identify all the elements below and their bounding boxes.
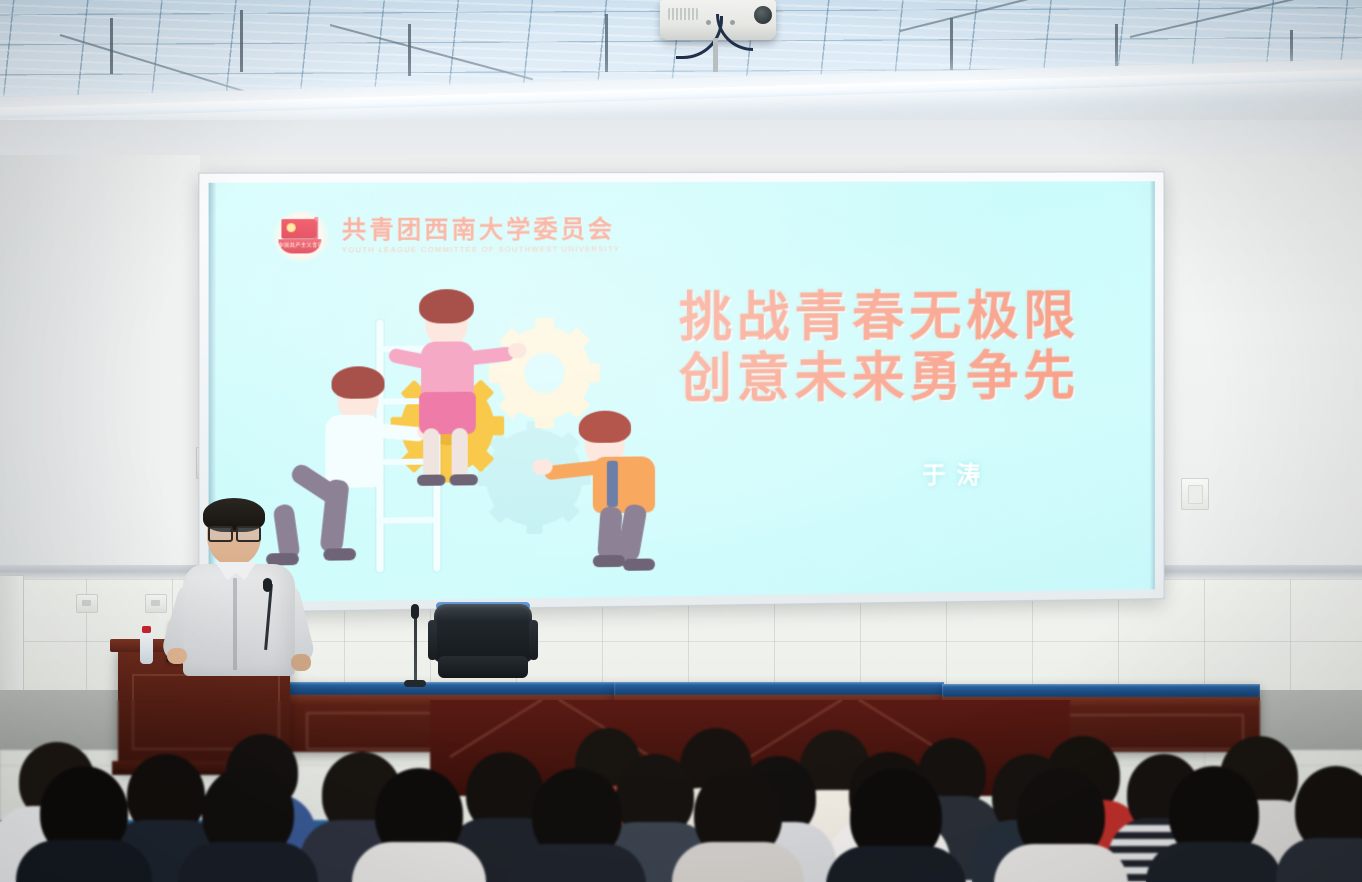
list-item xyxy=(352,768,486,882)
figure-hair xyxy=(579,410,631,443)
audience-body xyxy=(1276,838,1362,882)
ceiling-hanger-rod xyxy=(950,18,953,70)
list-item xyxy=(1146,766,1282,882)
audience-body xyxy=(178,842,318,882)
presenter-shirt-placket xyxy=(233,578,237,670)
executive-chair[interactable] xyxy=(428,604,538,690)
slide-org-name-en: YOUTH LEAGUE COMMITTEE OF SOUTHWEST UNIV… xyxy=(342,244,620,254)
gear-hub xyxy=(524,353,564,393)
slide-logo-text: 共青团西南大学委员会 YOUTH LEAGUE COMMITTEE OF SOU… xyxy=(342,218,620,254)
audience-body xyxy=(994,844,1128,882)
projected-slide: 中国共产主义青年团 共青团西南大学委员会 YOUTH LEAGUE COMMIT… xyxy=(209,181,1155,603)
list-item xyxy=(826,768,966,882)
communist-youth-league-emblem: 中国共产主义青年团 xyxy=(272,211,329,262)
figure-hand xyxy=(532,459,552,474)
list-item xyxy=(16,766,152,882)
slide-title: 挑战青春无极限 创意未来勇争先 xyxy=(626,286,1132,412)
list-item xyxy=(508,768,646,882)
slide-title-line-2: 创意未来勇争先 xyxy=(626,347,1132,412)
audience-body xyxy=(826,846,966,882)
wall-outlet-left[interactable] xyxy=(76,594,98,613)
figure-shoe xyxy=(323,548,356,561)
chair-backrest xyxy=(434,604,532,662)
audience-body xyxy=(1146,842,1282,882)
projector-lens xyxy=(754,6,772,24)
emblem-red-flag xyxy=(281,219,316,238)
wall-switch-right[interactable] xyxy=(1181,478,1209,510)
eyeglasses-lens-right xyxy=(236,526,261,542)
figure-shoe xyxy=(593,555,625,567)
wall-outlet-center[interactable] xyxy=(145,594,167,613)
seated-audience xyxy=(0,700,1362,882)
figure-right-reaching xyxy=(559,408,689,570)
desk-glass-top xyxy=(288,682,616,695)
audience-body xyxy=(16,840,152,882)
ceiling-hanger-rod xyxy=(605,14,608,72)
chair-armrest-right xyxy=(529,620,538,660)
desk-microphone-base xyxy=(404,680,426,687)
figure-on-ladder xyxy=(395,287,517,479)
figure-shoe xyxy=(450,474,478,485)
emblem-ribbon-text: 中国共产主义青年团 xyxy=(278,241,321,248)
slide-org-name-cn: 共青团西南大学委员会 xyxy=(342,218,620,243)
presenter-shirt xyxy=(183,564,295,676)
eyeglasses-bridge xyxy=(230,530,238,532)
desk-microphone-head xyxy=(411,604,419,619)
figure-leg xyxy=(597,506,623,559)
list-item xyxy=(672,768,804,882)
list-item xyxy=(1276,766,1362,882)
presenter-hand-left xyxy=(167,648,187,664)
presenter-hand-right xyxy=(291,654,311,671)
desk-glass-top xyxy=(614,682,944,695)
slide-speaker-name: 于涛 xyxy=(873,455,1040,491)
water-bottle[interactable] xyxy=(140,632,153,664)
figure-tie xyxy=(607,461,618,507)
ceiling-hanger-rod xyxy=(110,18,113,74)
figure-leg xyxy=(452,428,468,481)
list-item xyxy=(994,768,1128,882)
audience-body xyxy=(352,842,486,882)
desk-microphone-stand xyxy=(414,612,417,684)
figure-hand xyxy=(508,343,526,358)
lecture-hall-photo: 中国共产主义青年团 共青团西南大学委员会 YOUTH LEAGUE COMMIT… xyxy=(0,0,1362,882)
figure-shoe xyxy=(623,558,655,570)
projector-mount-pole xyxy=(713,38,718,72)
wall-chevron xyxy=(449,700,543,758)
list-item xyxy=(178,766,318,882)
figure-leg xyxy=(423,428,439,481)
chair-armrest-left xyxy=(428,620,437,660)
presenter-at-podium xyxy=(175,498,305,688)
ceiling-hanger-rod xyxy=(240,10,243,72)
desk-glass-top xyxy=(942,684,1260,697)
podium-microphone-head xyxy=(263,578,272,592)
figure-shoe xyxy=(417,475,445,486)
bottle-cap xyxy=(142,626,151,633)
figure-hair xyxy=(332,366,385,399)
audience-body xyxy=(672,842,804,882)
slide-logo-lockup: 中国共产主义青年团 共青团西南大学委员会 YOUTH LEAGUE COMMIT… xyxy=(272,210,620,261)
projection-screen-frame: 中国共产主义青年团 共青团西南大学委员会 YOUTH LEAGUE COMMIT… xyxy=(198,171,1164,613)
audience-body xyxy=(508,844,646,882)
slide-title-line-1: 挑战青春无极限 xyxy=(626,286,1132,350)
electrical-panel xyxy=(0,575,24,692)
left-wall-column xyxy=(0,155,200,575)
figure-hair xyxy=(419,289,474,324)
chair-seat xyxy=(438,656,528,678)
screen-edge-right xyxy=(1150,181,1155,589)
ceiling-hanger-rod xyxy=(408,24,411,76)
eyeglasses-lens-left xyxy=(208,526,233,542)
